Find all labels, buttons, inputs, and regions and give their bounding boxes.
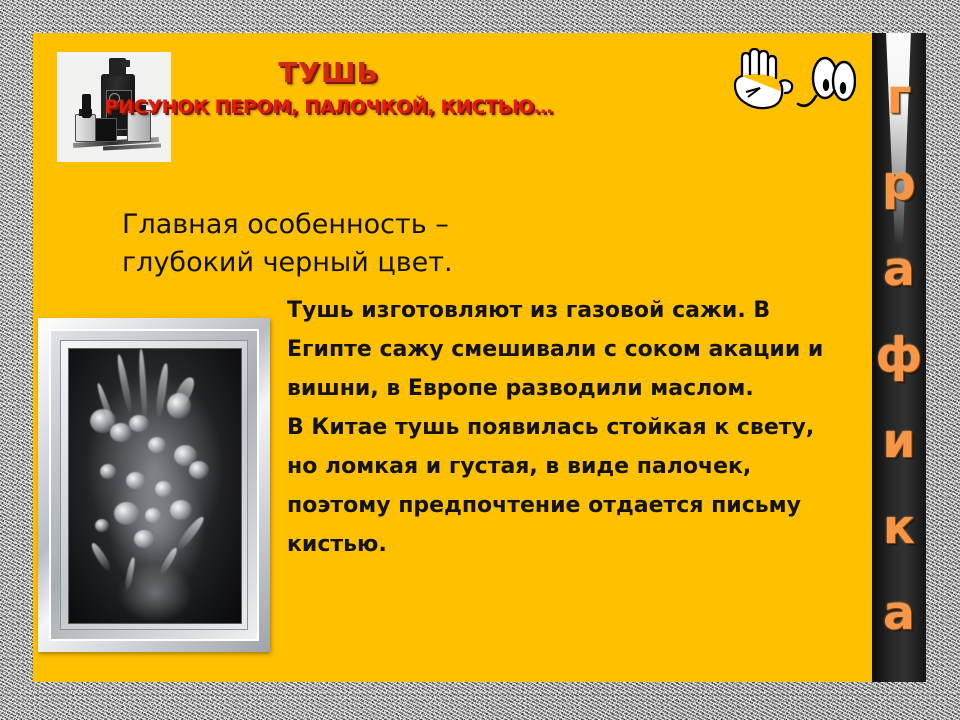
side-tab-letter: г bbox=[887, 55, 912, 141]
pupil-right bbox=[840, 82, 846, 94]
side-tab-letter: а bbox=[883, 227, 915, 313]
side-tab-letter: ф bbox=[876, 313, 923, 399]
finger-1 bbox=[742, 53, 750, 76]
body-paragraph: Тушь изготовляют из газовой сажи. В Егип… bbox=[287, 291, 832, 408]
side-tab-bar: г р а ф и к а bbox=[872, 33, 926, 682]
finger-4 bbox=[768, 56, 776, 78]
side-tab-letter: р bbox=[882, 141, 916, 227]
frame-bevel-outer bbox=[49, 329, 259, 641]
slide-canvas: ТУШЬ РИСУНОК ПЕРОМ, ПАЛОЧКОЙ, КИСТЬЮ… Гл… bbox=[0, 0, 960, 720]
side-tab-letter: к bbox=[883, 485, 915, 571]
body-text-block: Тушь изготовляют из газовой сажи. В Егип… bbox=[287, 291, 832, 564]
finger-3 bbox=[759, 51, 768, 75]
hand-eyes-icon bbox=[726, 48, 856, 120]
heading-line-2: глубокий черный цвет. bbox=[122, 244, 682, 282]
eye-right bbox=[833, 62, 855, 100]
body-paragraph: В Китае тушь появилась стойкая к свету, … bbox=[287, 408, 832, 564]
pupil-left bbox=[823, 79, 829, 91]
ink-jar-small-left bbox=[75, 114, 96, 142]
palm-thumb bbox=[735, 76, 792, 108]
finger-2 bbox=[750, 49, 759, 74]
frame-bevel-inner bbox=[60, 340, 248, 630]
eye-stalk bbox=[798, 96, 816, 106]
artwork-image bbox=[68, 348, 242, 624]
side-tab-word: г р а ф и к а bbox=[872, 33, 926, 682]
side-tab-letter: и bbox=[883, 399, 916, 485]
side-tab-letter: а bbox=[883, 571, 915, 657]
cartoon-hand-eyes-mascot bbox=[726, 48, 856, 120]
heading-line-1: Главная особенность – bbox=[122, 206, 682, 244]
ink-jar-dark bbox=[95, 118, 117, 142]
page-heading: Главная особенность – глубокий черный цв… bbox=[122, 206, 682, 282]
framed-artwork bbox=[38, 318, 270, 652]
